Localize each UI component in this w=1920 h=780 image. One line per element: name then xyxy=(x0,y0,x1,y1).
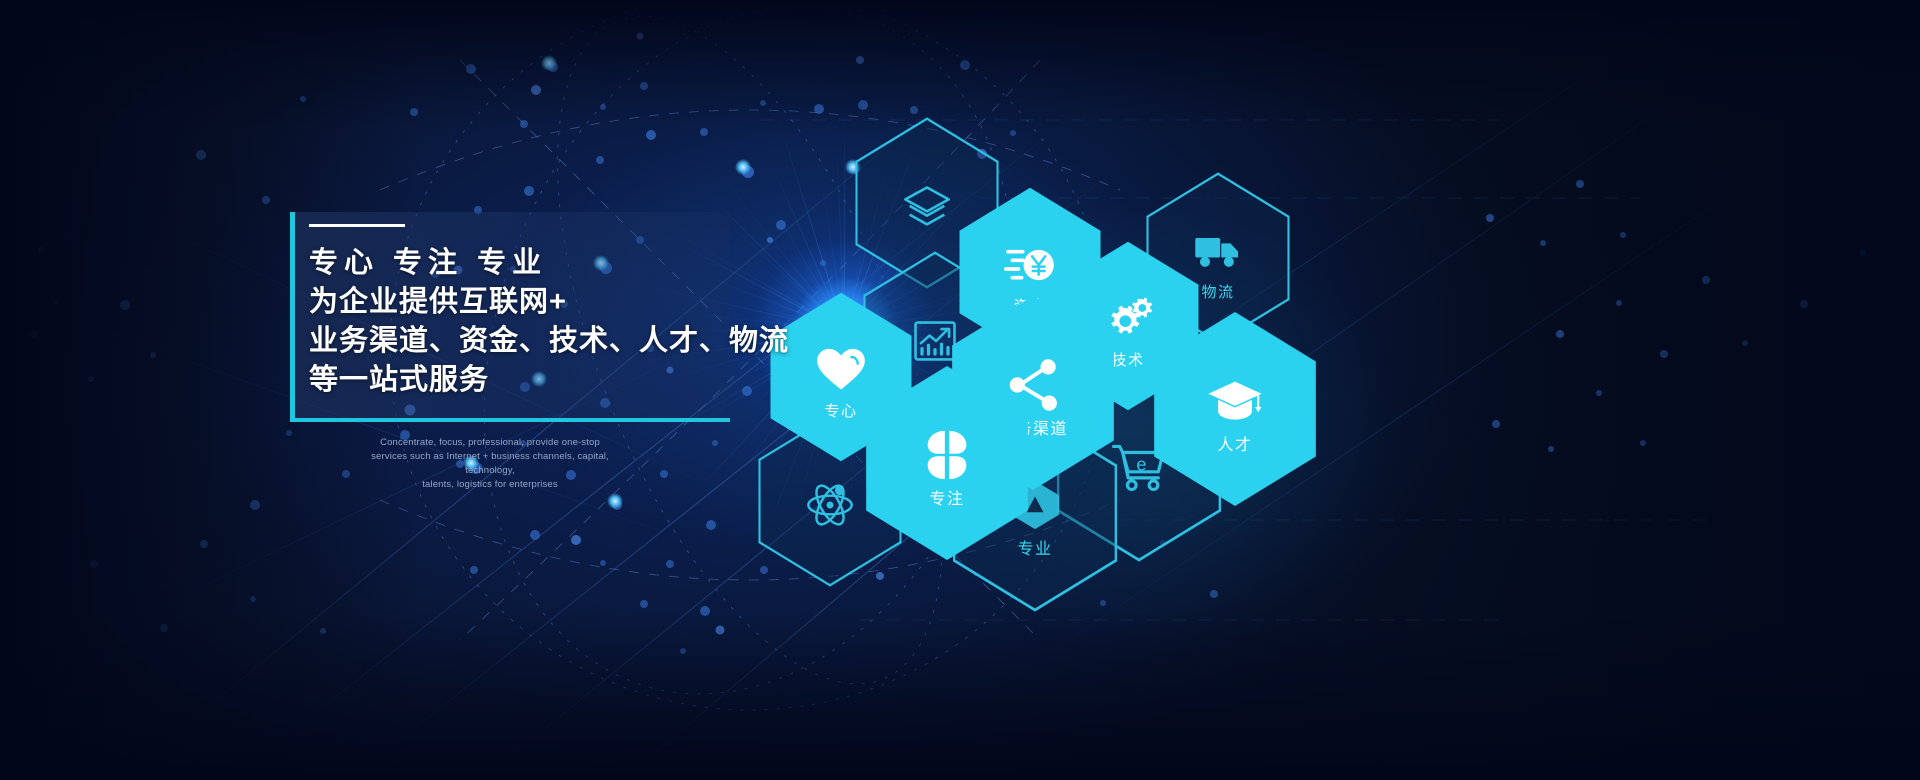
headline-line-4: 等一站式服务 xyxy=(309,361,779,400)
yen-coin-icon xyxy=(1004,239,1056,291)
graduation-cap-icon xyxy=(1206,372,1264,430)
hexagon-grid: 物流e专业资金技术人才专心业务渠道专注 xyxy=(0,0,1920,780)
hex-tile-focus[interactable]: 专注 xyxy=(861,364,1033,562)
svg-text:e: e xyxy=(1136,455,1146,475)
hex-label-logistics: 物流 xyxy=(1201,285,1234,300)
headline-line-2: 为企业提供互联网+ xyxy=(309,283,779,322)
heart-icon xyxy=(815,344,867,396)
layers-icon xyxy=(901,181,953,233)
clover-icon xyxy=(918,426,976,484)
atom-icon xyxy=(804,479,856,531)
hex-tile-talent[interactable]: 人才 xyxy=(1149,310,1321,508)
hero-banner: 物流e专业资金技术人才专心业务渠道专注 专心 专注 专业 为企业提供互联网+ 业… xyxy=(0,0,1920,780)
headline-copy: 专心 专注 专业 为企业提供互联网+ 业务渠道、资金、技术、人才、物流 等一站式… xyxy=(309,224,779,400)
headline-line-1: 专心 专注 专业 xyxy=(309,244,779,283)
subcopy-line-2: services such as Internet + business cha… xyxy=(345,450,635,478)
headline-rule xyxy=(309,224,405,227)
hex-label-talent: 人才 xyxy=(1217,438,1252,454)
hex-label-concentrate: 专心 xyxy=(824,404,857,419)
subcopy: Concentrate, focus, professional, provid… xyxy=(345,436,635,492)
hex-label-focus: 专注 xyxy=(929,492,964,508)
headline-line-3: 业务渠道、资金、技术、人才、物流 xyxy=(309,322,779,361)
subcopy-line-3: talents, logistics for enterprises xyxy=(345,478,635,492)
subcopy-line-1: Concentrate, focus, professional, provid… xyxy=(345,436,635,450)
